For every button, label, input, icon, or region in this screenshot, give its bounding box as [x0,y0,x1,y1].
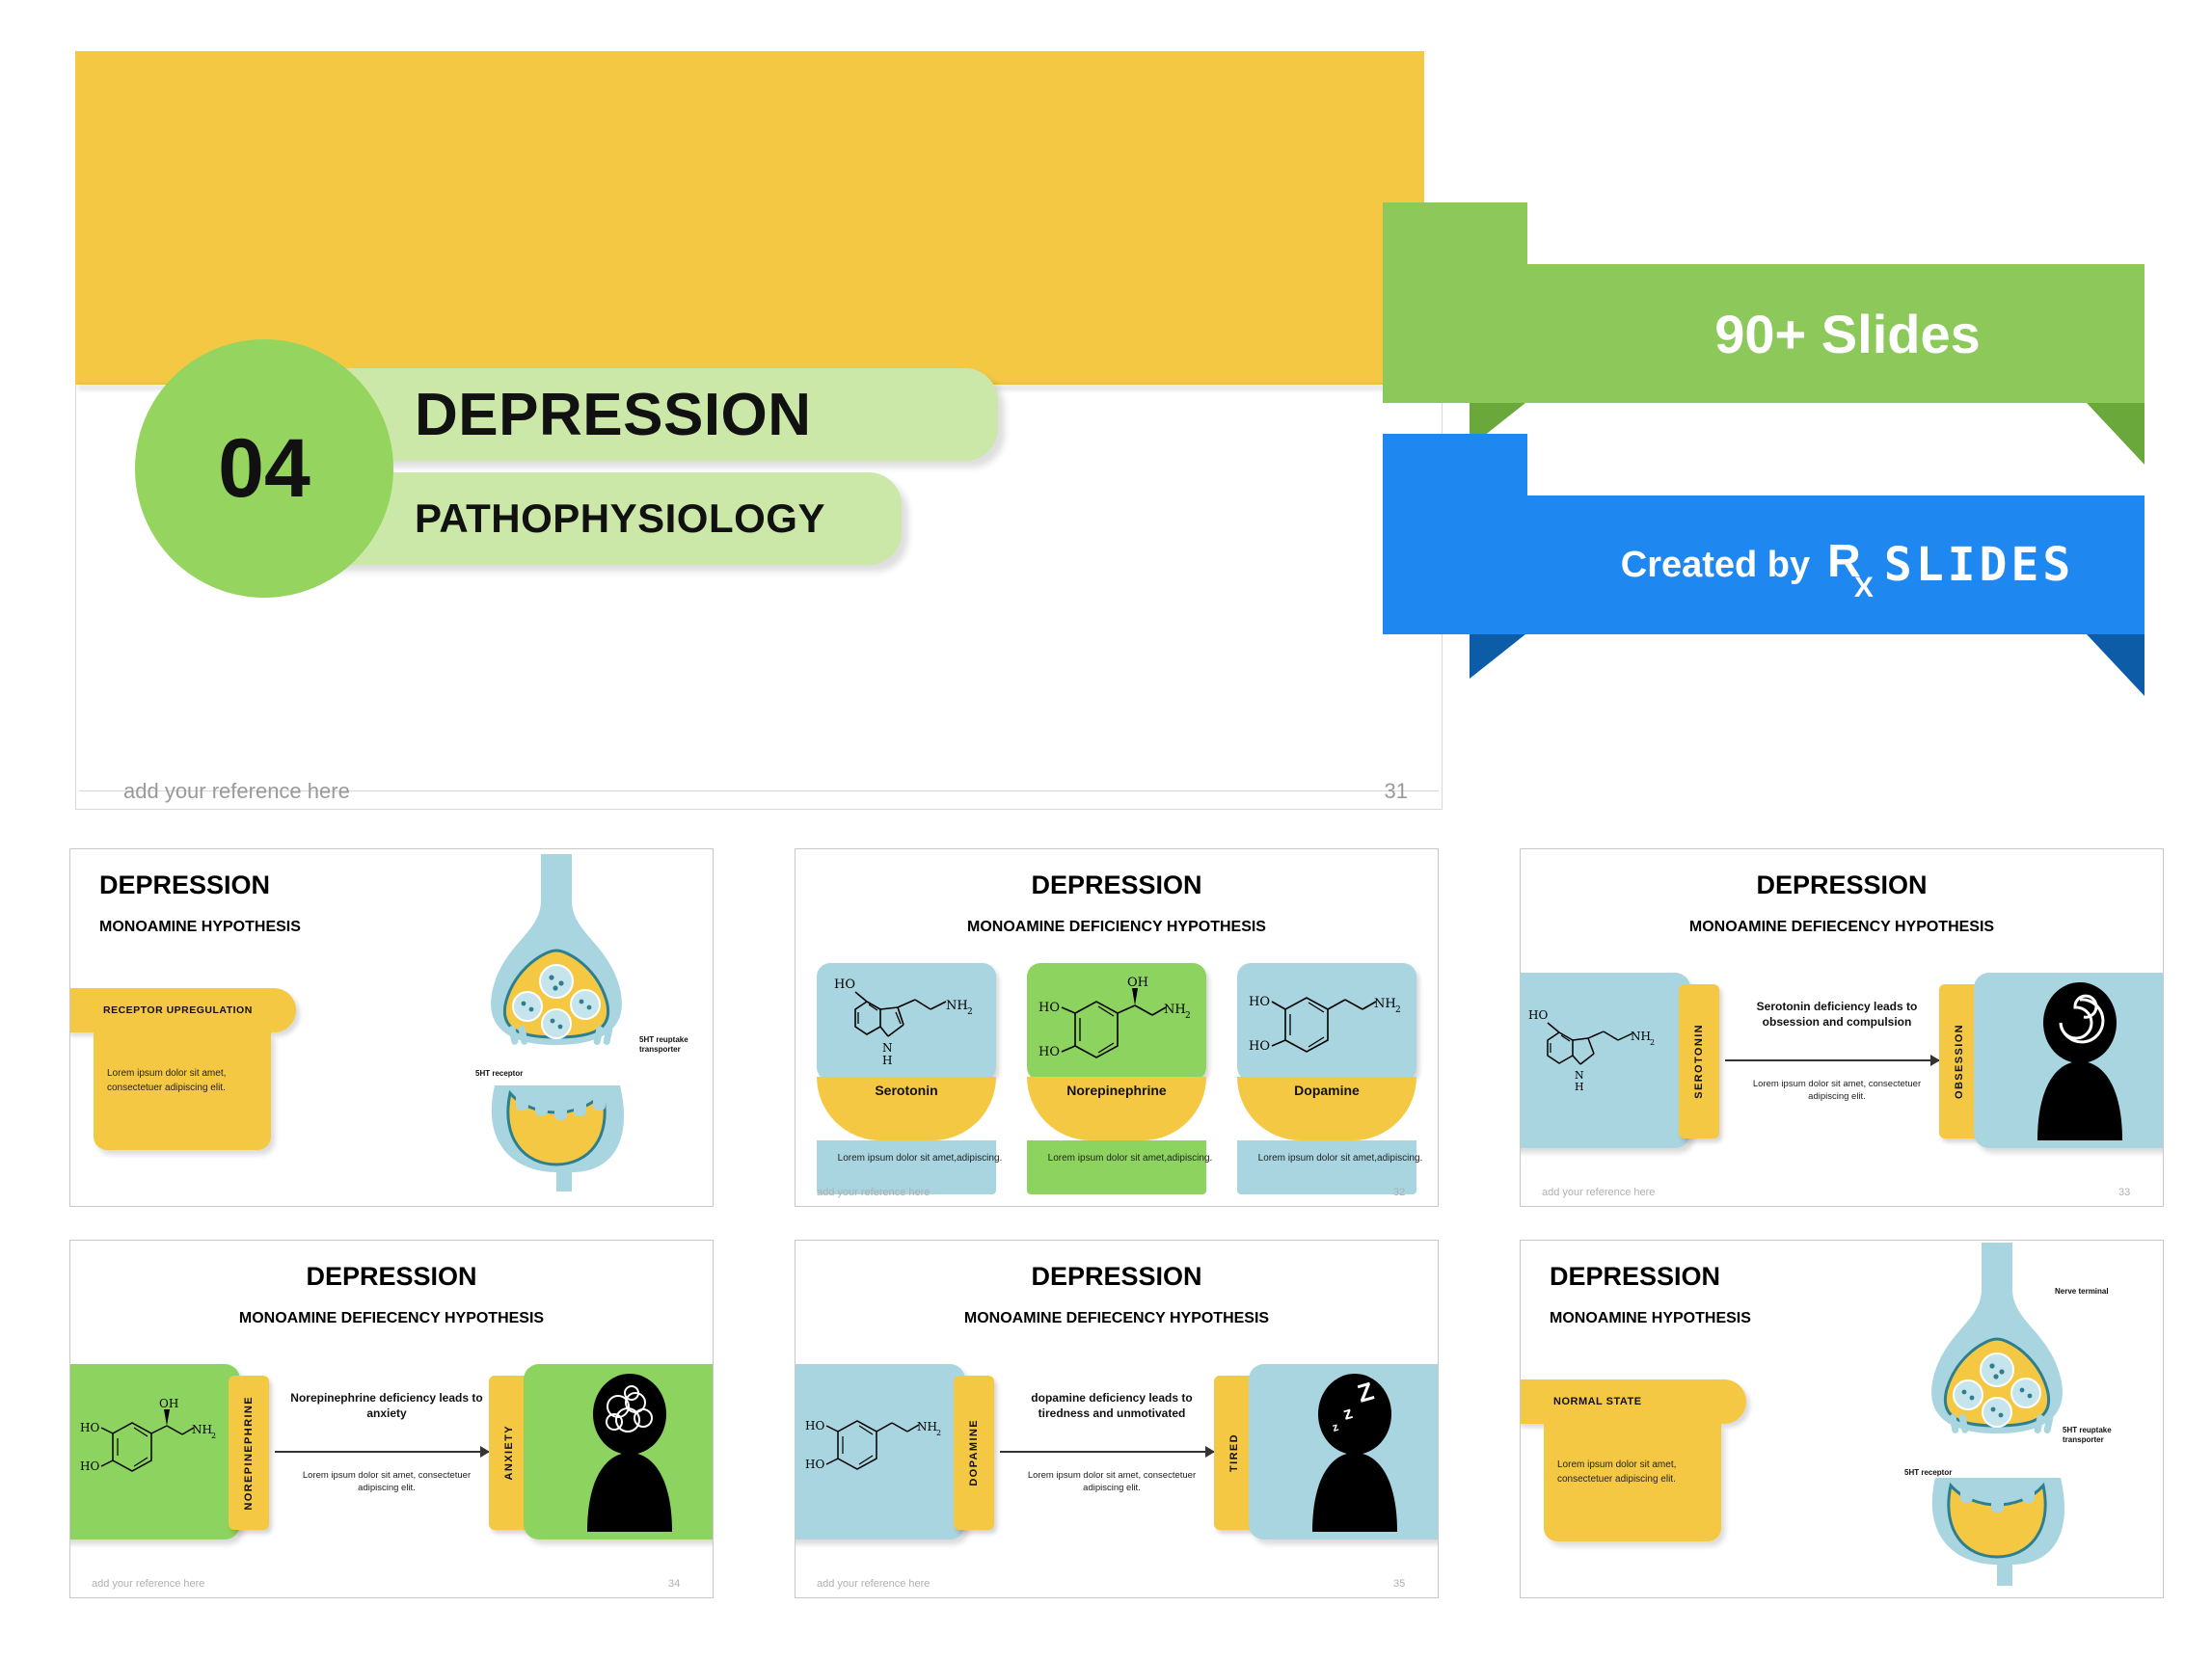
thumb6-body-text: Lorem ipsum dolor sit amet, consectetuer… [1544,1424,1721,1486]
molecule-card-dopamine[interactable]: HO HO NH 2 Dopamine Lorem ipsum dolor si… [1237,963,1416,1194]
norepinephrine-arc: Norepinephrine [1027,1077,1206,1140]
thumb1-receptor-label: 5HT receptor [475,1069,523,1078]
serotonin-structure: HO N H NH 2 [830,971,985,1075]
thumb2-reference: add your reference here [817,1187,930,1198]
thumb5-left-tab-label: DOPAMINE [968,1419,980,1486]
postsynaptic-terminal-2 [1932,1478,2064,1586]
thumb4-right-tab-label: ANXIETY [503,1425,515,1480]
tired-person-icon: Z z z [1301,1370,1407,1534]
thumb1-transporter-label: 5HT reuptake transporter [639,1035,713,1055]
thumb3-arrow [1725,1059,1939,1061]
section-number-badge: 04 [135,339,393,598]
dopamine-structure: HO HO NH 2 [1249,980,1407,1069]
molecule-card-serotonin[interactable]: HO N H NH 2 Serotonin Lorem ipsum dolor … [817,963,996,1194]
svg-text:2: 2 [967,1007,973,1017]
page-title: DEPRESSION [415,374,955,455]
thumb4-page: 34 [668,1578,680,1590]
thumb2-title: DEPRESSION [796,870,1438,900]
thumbnail-slide-3[interactable]: DEPRESSION MONOAMINE DEFIECENCY HYPOTHES… [1520,848,2164,1207]
dopamine-arc: Dopamine [1237,1077,1416,1140]
norepinephrine-body: Lorem ipsum dolor sit amet,adipiscing. [1027,1152,1233,1165]
thumb4-headline: Norepinephrine deficiency leads to anxie… [290,1391,483,1421]
thumb3-headline: Serotonin deficiency leads to obsession … [1740,1000,1933,1030]
thumb6-tab-label: NORMAL STATE [1553,1396,1642,1407]
serotonin-body: Lorem ipsum dolor sit amet,adipiscing. [817,1152,1023,1165]
thumb4-subtitle: MONOAMINE DEFIECENCY HYPOTHESIS [70,1310,713,1327]
thumb5-dopamine-structure: HO HO NH 2 [805,1406,950,1493]
thumb3-page: 33 [2118,1187,2130,1198]
svg-text:OH: OH [159,1397,178,1410]
norepinephrine-card-bottom [1027,1140,1206,1194]
svg-text:NH: NH [917,1420,937,1433]
svg-text:2: 2 [1395,1005,1401,1015]
rx-subscript: X [1854,572,1873,603]
serotonin-arc: Serotonin [817,1077,996,1140]
thumb6-state-tab: NORMAL STATE [1520,1379,1746,1424]
thumb2-page: 32 [1393,1187,1405,1198]
molecule-card-norepinephrine[interactable]: HO HO OH NH 2 Norepinephrine Lorem ipsum… [1027,963,1206,1194]
svg-text:HO: HO [805,1458,824,1471]
thumbnail-slide-4[interactable]: DEPRESSION MONOAMINE DEFIECENCY HYPOTHES… [69,1240,714,1598]
slides-count-label: 90+ Slides [1549,264,2146,403]
svg-text:HO: HO [1039,1045,1060,1059]
thumb4-arrow [275,1451,489,1453]
thumb6-body-card: Lorem ipsum dolor sit amet, consectetuer… [1544,1424,1721,1541]
dopamine-body: Lorem ipsum dolor sit amet,adipiscing. [1237,1152,1439,1165]
svg-text:HO: HO [80,1421,99,1434]
svg-text:NH: NH [1631,1030,1651,1043]
svg-text:H: H [882,1054,892,1067]
norepinephrine-structure: HO HO OH NH 2 [1039,975,1197,1075]
thumb4-left-tab: NOREPINEPHRINE [229,1376,269,1530]
thumb2-subtitle: MONOAMINE DEFICIENCY HYPOTHESIS [796,919,1438,936]
svg-text:HO: HO [80,1459,99,1473]
svg-text:H: H [1575,1081,1584,1093]
created-by-label: Created by [1621,545,1810,586]
ribbon-fold-right-blue [2087,634,2145,696]
thumb4-title: DEPRESSION [70,1262,713,1292]
svg-text:HO: HO [1039,1001,1060,1015]
serotonin-label: Serotonin [875,1083,937,1098]
thumb4-norepinephrine-structure: HO HO OH NH 2 [80,1395,225,1487]
obsession-person-icon [2026,978,2132,1142]
postsynaptic-terminal-1 [492,1085,624,1191]
svg-text:N: N [882,1041,893,1055]
thumb3-title: DEPRESSION [1521,870,2163,900]
thumb5-title: DEPRESSION [796,1262,1438,1292]
page-subtitle: PATHOPHYSIOLOGY [415,480,955,557]
svg-text:NH: NH [1374,997,1396,1011]
dopamine-label: Dopamine [1294,1083,1360,1098]
thumb1-tab-label: RECEPTOR UPREGULATION [103,1004,253,1016]
svg-text:HO: HO [805,1419,824,1432]
svg-text:HO: HO [834,977,855,992]
thumb6-nerve-terminal-label: Nerve terminal [2055,1287,2113,1297]
svg-text:2: 2 [936,1429,941,1437]
thumb3-right-tab-label: OBSESSION [1954,1024,1965,1099]
thumb3-subtitle: MONOAMINE DEFIECENCY HYPOTHESIS [1521,919,2163,936]
ribbon-fold-left-blue [1470,634,1525,679]
slides-wordmark: SLIDES [1884,538,2074,592]
thumb5-page: 35 [1393,1578,1405,1590]
thumb5-body: Lorem ipsum dolor sit amet, consectetuer… [1015,1470,1208,1495]
norepinephrine-label: Norepinephrine [1066,1083,1166,1098]
rx-slides-logo: RX SLIDES [1827,535,2074,595]
rx-icon: RX [1827,535,1878,595]
thumb1-body-card: Lorem ipsum dolor sit amet, consectetuer… [94,1032,271,1150]
presynaptic-terminal-2 [1931,1243,2063,1434]
thumbnail-slide-1[interactable]: DEPRESSION MONOAMINE HYPOTHESIS RECEPTOR… [69,848,714,1207]
synapse-diagram-1 [456,854,678,1191]
page-number: 31 [1340,779,1408,804]
svg-text:HO: HO [1249,1039,1270,1054]
thumb4-body: Lorem ipsum dolor sit amet, consectetuer… [290,1470,483,1495]
thumbnail-slide-6[interactable]: DEPRESSION MONOAMINE HYPOTHESIS NORMAL S… [1520,1240,2164,1598]
thumb5-left-tab: DOPAMINE [954,1376,994,1530]
created-by-block: Created by RX SLIDES [1549,495,2146,634]
thumb5-right-tab-label: TIRED [1228,1433,1240,1472]
svg-text:2: 2 [1185,1011,1191,1021]
thumb3-left-tab-label: SEROTONIN [1693,1024,1705,1099]
svg-text:OH: OH [1127,976,1148,990]
thumb5-subtitle: MONOAMINE DEFIECENCY HYPOTHESIS [796,1310,1438,1327]
thumb4-left-tab-label: NOREPINEPHRINE [243,1396,255,1511]
svg-text:NH: NH [192,1423,212,1436]
created-by-ribbon: Created by RX SLIDES [1383,434,2212,704]
slides-count-ribbon: 90+ Slides [1383,202,2212,472]
thumb3-left-tab: SEROTONIN [1679,984,1719,1138]
thumb6-receptor-label: 5HT receptor [1904,1468,1952,1477]
anxiety-person-icon [576,1370,682,1534]
svg-text:2: 2 [1650,1038,1655,1047]
thumb5-arrow [1000,1451,1214,1453]
thumb4-reference: add your reference here [92,1578,204,1590]
thumbnail-slide-5[interactable]: DEPRESSION MONOAMINE DEFIECENCY HYPOTHES… [795,1240,1439,1598]
thumbnail-slide-2[interactable]: DEPRESSION MONOAMINE DEFICIENCY HYPOTHES… [795,848,1439,1207]
svg-text:HO: HO [1528,1008,1548,1022]
thumb3-serotonin-structure: HO N H NH 2 [1526,1004,1671,1096]
dopamine-card-bottom [1237,1140,1416,1194]
svg-text:HO: HO [1249,995,1270,1009]
svg-text:NH: NH [946,999,968,1013]
thumb5-reference: add your reference here [817,1578,930,1590]
reference-text: add your reference here [123,779,350,804]
thumb1-body-text: Lorem ipsum dolor sit amet, consectetuer… [94,1032,271,1095]
svg-text:NH: NH [1164,1003,1186,1017]
svg-text:2: 2 [211,1432,216,1440]
thumb6-transporter-label: 5HT reuptake transporter [2063,1426,2136,1445]
thumb5-headline: dopamine deficiency leads to tiredness a… [1015,1391,1208,1421]
presynaptic-terminal-1 [491,854,622,1046]
hero-yellow-banner [75,51,1424,385]
thumb3-body: Lorem ipsum dolor sit amet, consectetuer… [1740,1079,1933,1104]
thumb1-receptor-tab: RECEPTOR UPREGULATION [69,988,296,1032]
thumb3-reference: add your reference here [1542,1187,1655,1198]
